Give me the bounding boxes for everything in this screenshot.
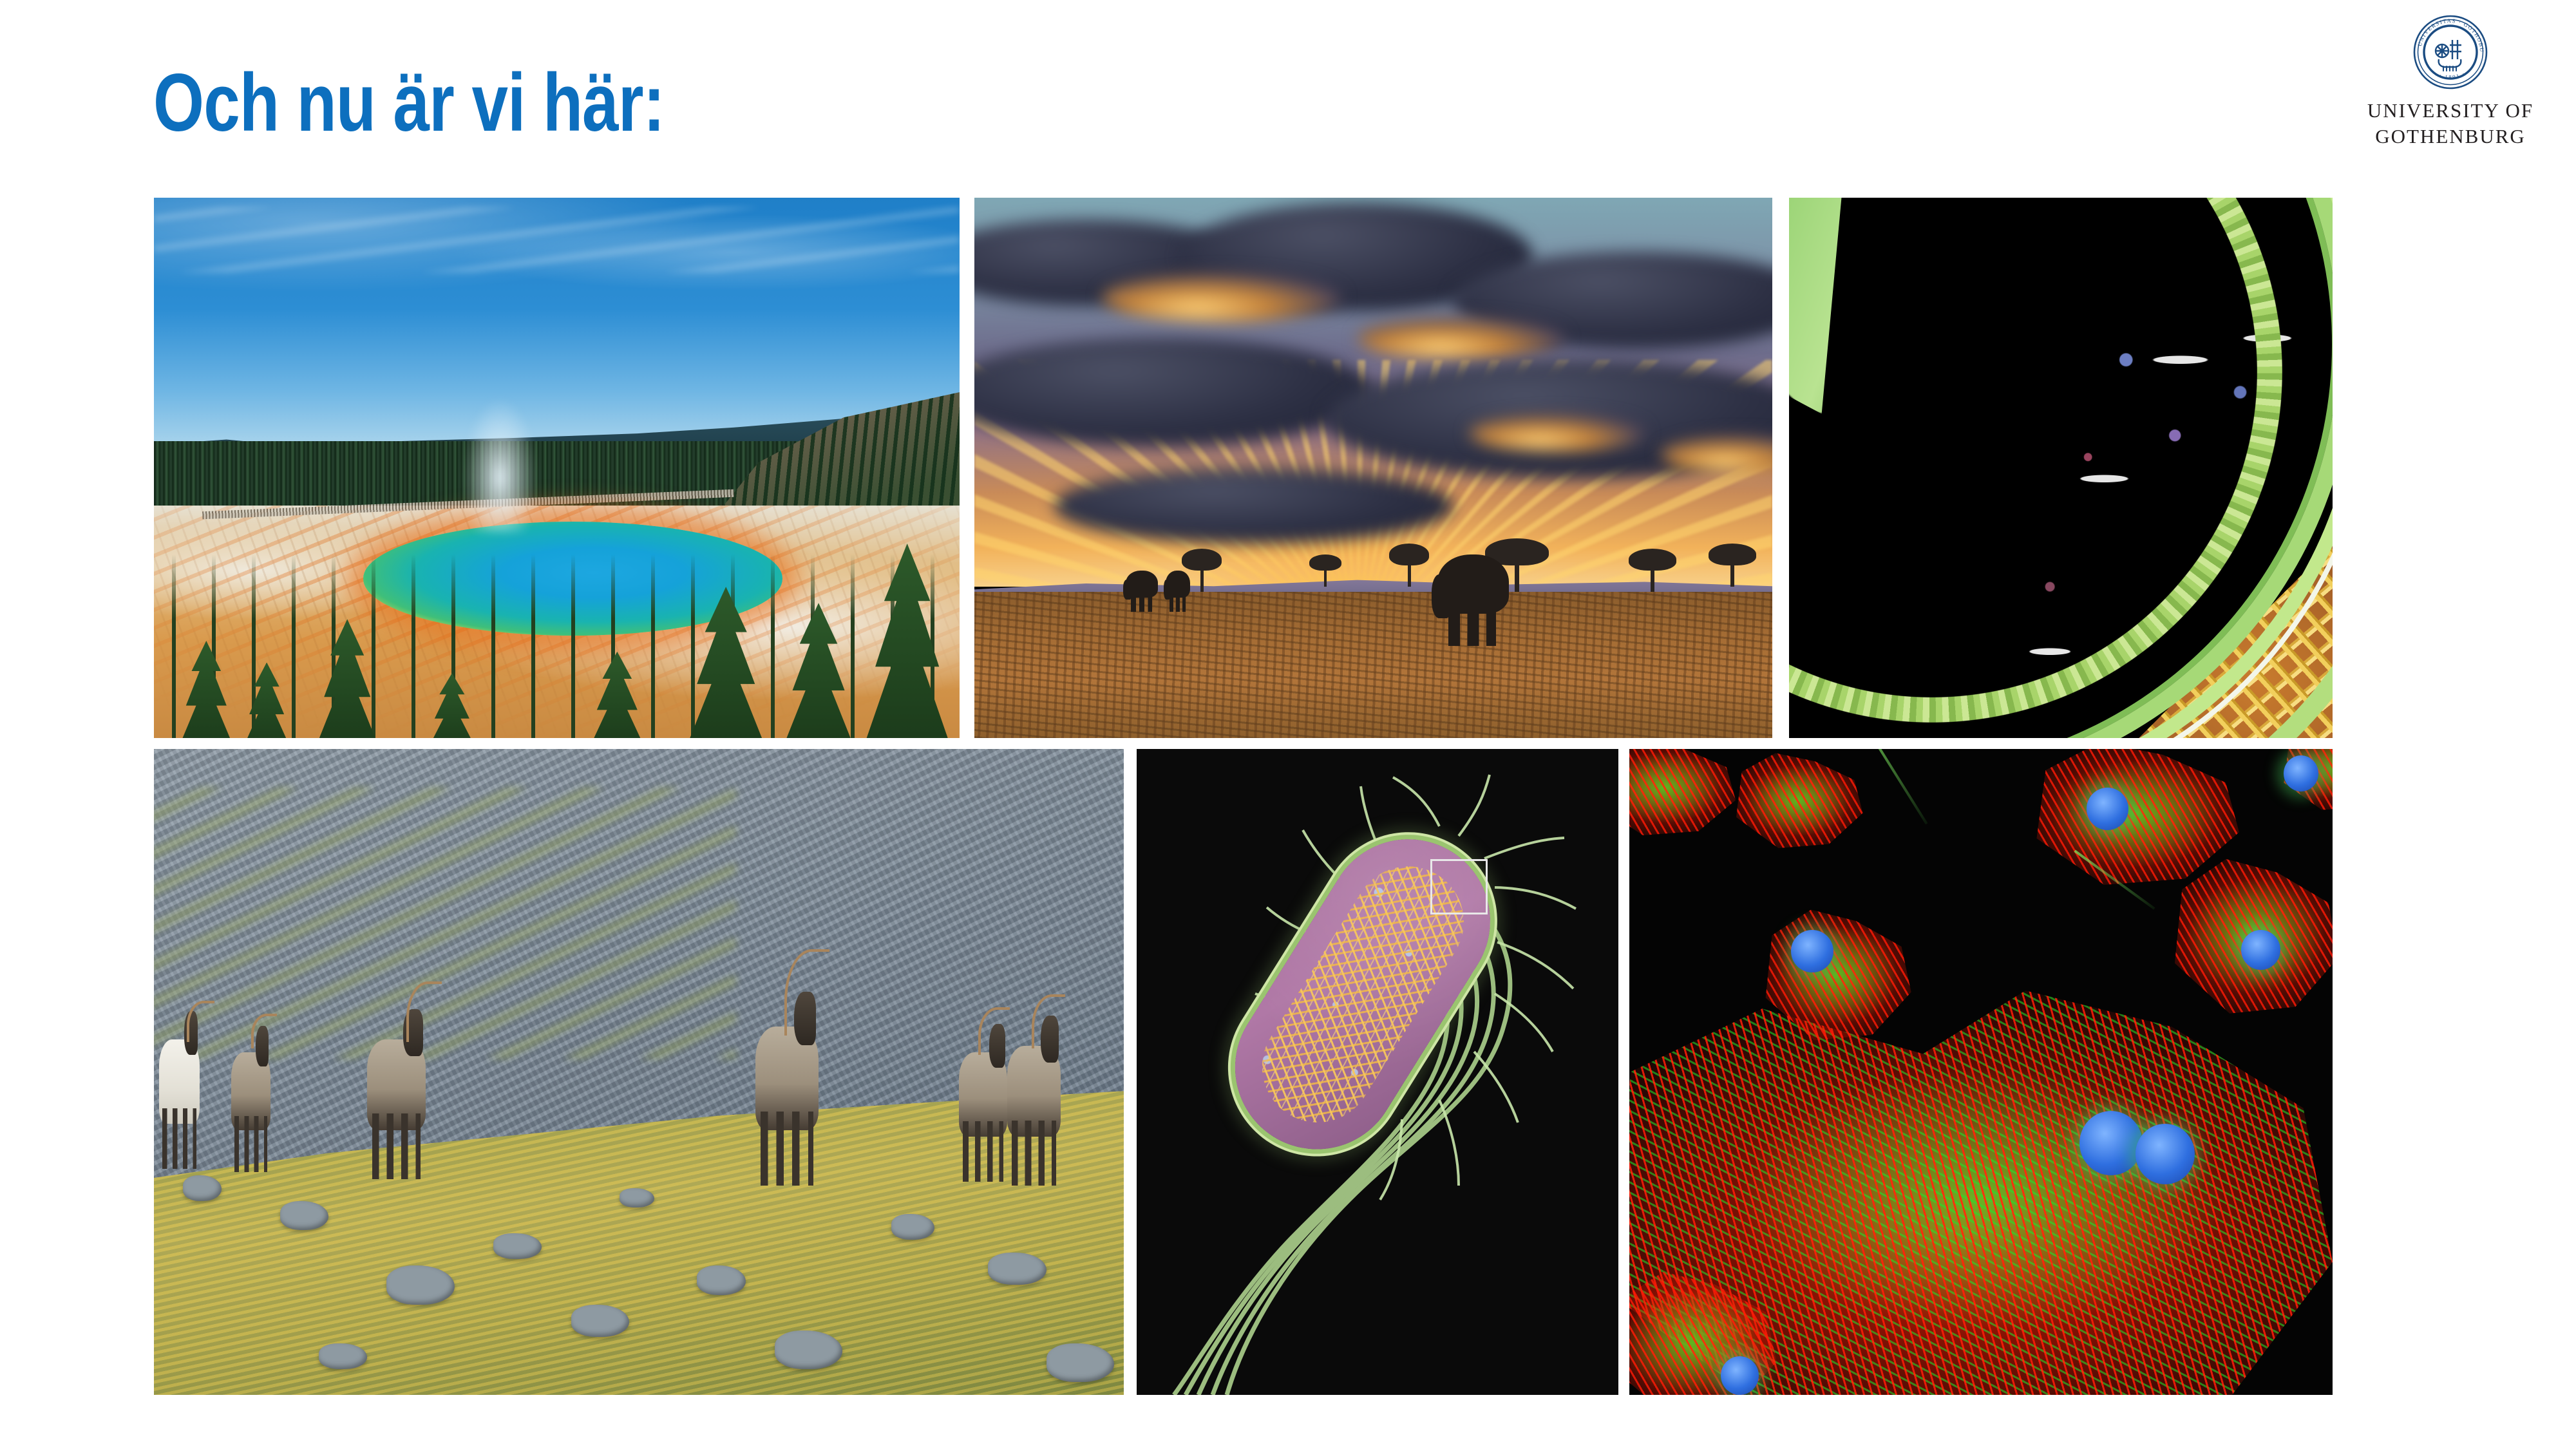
rock — [386, 1265, 454, 1304]
elephant-silhouette — [1166, 571, 1189, 598]
rock — [493, 1233, 542, 1259]
page-title: Och nu är vi här: — [153, 62, 665, 144]
sunlit-cloud — [1469, 414, 1645, 452]
university-of-gothenburg-logo: UNIVERSITAS · GOTHOBURGENSIS · 1891 · UN… — [2357, 14, 2544, 149]
cell-nucleus — [2284, 755, 2319, 791]
cytoplasm-layer — [1789, 198, 2333, 738]
antler — [784, 949, 829, 1036]
elephant-silhouette — [1126, 571, 1158, 598]
distant-hills-layer — [154, 408, 960, 495]
ribosome-dna-mesh-layer — [2028, 468, 2333, 739]
pine-tree — [782, 603, 855, 738]
cell-nucleus — [2136, 1124, 2195, 1184]
reindeer — [231, 1052, 270, 1130]
rock — [280, 1201, 328, 1230]
acacia-tree — [1485, 538, 1549, 565]
peripheral-cell — [1629, 1265, 1784, 1395]
rock — [697, 1265, 745, 1294]
university-seal-icon: UNIVERSITAS · GOTHOBURGENSIS · 1891 · — [2412, 14, 2488, 90]
reindeer — [367, 1039, 425, 1130]
acacia-tree — [1629, 549, 1676, 571]
acacia-tree — [1389, 544, 1429, 565]
foreground-tree-band — [154, 554, 960, 738]
sunset-sky-layer — [974, 198, 1772, 587]
rock — [319, 1343, 367, 1369]
logo-wordmark-line-1: UNIVERSITY OF — [2357, 98, 2544, 124]
forest-band-layer — [154, 441, 960, 527]
storm-cloud — [974, 220, 1245, 306]
white-reindeer — [159, 1039, 200, 1123]
steam-plume — [444, 349, 556, 533]
logo-wordmark-line-2: GOTHENBURG — [2357, 124, 2544, 149]
antler — [406, 981, 442, 1042]
dna-strand-layer — [1789, 198, 2333, 738]
peripheral-cell — [1728, 749, 1868, 852]
sunlit-cloud — [1358, 317, 1565, 360]
boardwalk-layer — [202, 489, 734, 519]
peripheral-cell — [2277, 749, 2333, 813]
cell-nucleus — [2241, 930, 2280, 970]
peripheral-cell — [1756, 904, 1918, 1046]
cell-nucleus — [2079, 1111, 2143, 1175]
cell-nucleus — [2087, 788, 2129, 830]
sunlit-cloud — [1661, 435, 1772, 473]
acacia-tree — [1709, 544, 1756, 565]
grass-ridge-layer — [154, 1085, 1124, 1395]
escherichia-coli-illustration — [1137, 749, 1618, 1395]
periplasm-ring — [1789, 198, 2333, 738]
pine-tree — [686, 587, 766, 738]
rock — [183, 1175, 222, 1201]
svg-text:UNIVERSITAS · GOTHOBURGENSIS: UNIVERSITAS · GOTHOBURGENSIS — [2412, 14, 2485, 53]
cell-nucleus — [1721, 1356, 1759, 1395]
sky-layer — [154, 198, 960, 446]
inner-membrane-ring — [1789, 198, 2333, 738]
cell-envelope-layer — [1789, 198, 2333, 738]
reindeer — [1007, 1046, 1061, 1136]
pine-tree — [863, 544, 952, 738]
fluorescence-microscopy-cells-photo — [1629, 749, 2333, 1395]
storm-cloud — [1325, 360, 1772, 479]
rock — [775, 1331, 842, 1369]
distant-hills-layer — [974, 571, 1772, 598]
moss-streak-layer — [154, 788, 736, 1059]
cell-projection — [2074, 849, 2155, 909]
slide-canvas: Och nu är vi här: UNIVERSITAS · GOTHOBUR… — [0, 0, 2576, 1449]
rock — [891, 1214, 935, 1240]
peripheral-cell — [1629, 749, 1742, 839]
rock — [620, 1188, 654, 1207]
sunbeam-rays-layer — [974, 360, 1772, 609]
cell-projection — [1866, 749, 1927, 824]
protein-speckle-layer — [1789, 198, 2333, 738]
lipopolysaccharide-brush — [1789, 198, 2333, 738]
pine-tree — [243, 663, 291, 738]
sun-glow-layer — [974, 446, 1772, 609]
pine-tree — [428, 673, 476, 738]
storm-cloud — [1054, 468, 1454, 544]
cell-nucleus — [1791, 930, 1833, 972]
grand-prismatic-spring-photo — [154, 198, 960, 738]
elephant-silhouette — [1437, 554, 1510, 614]
rock — [1046, 1343, 1114, 1382]
reindeer — [755, 1027, 819, 1130]
peptidoglycan-ring — [1789, 198, 2333, 738]
flagellum — [1789, 198, 1920, 414]
outer-membrane-ring — [1789, 198, 2333, 738]
storm-cloud — [1182, 203, 1533, 311]
antler — [251, 1014, 277, 1048]
right-ridge-layer — [702, 392, 960, 533]
pine-tree — [178, 641, 235, 738]
acacia-tree — [1309, 554, 1341, 571]
antler — [187, 1001, 214, 1042]
dry-grassland-layer — [974, 592, 1772, 738]
inset-highlight-box — [1430, 859, 1487, 914]
reindeer — [959, 1052, 1007, 1136]
bacterial-cell-envelope-illustration — [1789, 198, 2333, 738]
sunlit-cloud — [1102, 273, 1341, 322]
peripheral-cell — [2023, 749, 2248, 891]
peripheral-cell — [2164, 852, 2333, 1020]
storm-cloud — [1453, 252, 1772, 349]
svg-text:· 1891 ·: · 1891 · — [2438, 70, 2467, 80]
scree-slope-layer — [154, 749, 1124, 1395]
storm-cloud — [974, 338, 1374, 446]
antler — [978, 1007, 1010, 1055]
rock — [571, 1305, 629, 1337]
hot-spring-pool — [363, 522, 782, 635]
antler — [1032, 994, 1065, 1048]
reindeer-tundra-photo — [154, 749, 1124, 1395]
pine-tree — [315, 619, 379, 738]
central-cell — [1629, 981, 2333, 1395]
acacia-tree — [1182, 549, 1222, 571]
african-savanna-sunset-photo — [974, 198, 1772, 738]
rock — [988, 1253, 1046, 1285]
pine-tree — [589, 652, 646, 738]
mineral-basin-layer — [154, 506, 960, 738]
